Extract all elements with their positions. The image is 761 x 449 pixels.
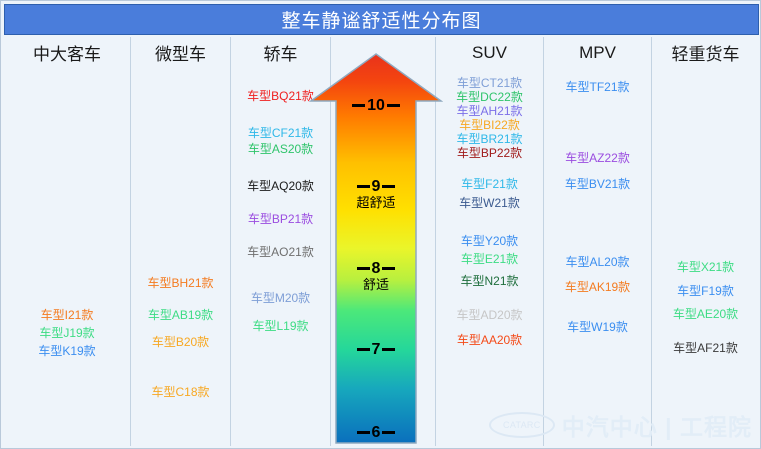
model-label: 车型AZ22款 [565,152,630,165]
category-header-label: 中大客车 [33,40,101,65]
category-header-label: MPV [579,43,616,63]
category-header-label: 轿车 [264,40,298,65]
model-label: 车型AA20款 [457,334,522,347]
model-label: 车型F19款 [677,285,734,298]
model-label: 车型AB19款 [148,309,213,322]
model-label: 车型AL20款 [565,256,629,269]
model-label: 车型E21款 [461,253,518,266]
model-label: 车型AF21款 [673,342,738,355]
model-label: 车型BQ21款 [247,90,314,103]
model-label: 车型N21款 [460,275,518,288]
model-label: 车型M20款 [251,292,310,305]
category-header-label: 轻重货车 [672,40,740,65]
category-header-suv: SUV [435,37,543,68]
model-label: 车型AQ20款 [247,180,314,193]
model-label: 车型AH21款 [456,105,522,118]
model-label: 车型J19款 [39,327,94,340]
category-columns: 车型I21款车型J19款车型K19款车型BH21款车型AB19款车型B20款车型… [4,68,759,446]
model-label: 车型AE20款 [673,308,738,321]
category-column-sedan: 车型BQ21款车型CF21款车型AS20款车型AQ20款车型BP21款车型AO2… [230,68,330,446]
model-label: 车型BI22款 [459,119,520,132]
model-label: 车型AO21款 [247,246,314,259]
category-header-light-heavy-truck: 轻重货车 [651,37,759,68]
model-label: 车型L19款 [252,320,308,333]
category-column-mini-car: 车型BH21款车型AB19款车型B20款车型C18款 [130,68,230,446]
model-label: 车型AK19款 [565,281,630,294]
category-header-label: SUV [472,43,507,63]
model-label: 车型CT21款 [457,77,522,90]
category-column-light-heavy-truck: 车型X21款车型F19款车型AE20款车型AF21款 [651,68,759,446]
category-header-sedan: 轿车 [230,37,330,68]
title-banner: 整车静谧舒适性分布图 [4,4,759,35]
model-label: 车型F21款 [461,178,518,191]
catarc-logo-icon: CATARC [489,412,555,438]
model-label: 车型Y20款 [461,235,518,248]
model-label: 车型BV21款 [565,178,630,191]
model-label: 车型AS20款 [248,143,313,156]
model-label: 车型BR21款 [456,133,522,146]
model-label: 车型B20款 [152,336,209,349]
category-column-mpv: 车型TF21款车型AZ22款车型BV21款车型AL20款车型AK19款车型W19… [543,68,651,446]
model-label: 车型AD20款 [456,309,522,322]
model-label: 车型I21款 [41,309,94,322]
watermark: CATARC 中汽中心 | 工程院 [489,408,752,442]
model-label: 车型W19款 [567,321,628,334]
model-label: 车型TF21款 [565,81,629,94]
model-label: 车型CF21款 [248,127,313,140]
category-header-row: 中大客车微型车轿车SUVMPV轻重货车 [4,37,759,68]
model-label: 车型DC22款 [456,91,523,104]
model-label: 车型W21款 [459,197,520,210]
category-column-suv: 车型CT21款车型DC22款车型AH21款车型BI22款车型BR21款车型BP2… [435,68,543,446]
category-header-label: 微型车 [155,40,206,65]
model-label: 车型C18款 [151,386,209,399]
category-header-arrow-gap [330,37,435,68]
watermark-brand-text: 中汽中心 | 工程院 [562,408,752,442]
category-column-arrow-gap [330,68,435,446]
category-column-large-bus: 车型I21款车型J19款车型K19款 [4,68,130,446]
chart-root: 整车静谧舒适性分布图 中大客车微型车轿车SUVMPV轻重货车 车型I21款车型J… [0,0,761,449]
model-label: 车型BH21款 [147,277,213,290]
category-header-mini-car: 微型车 [130,37,230,68]
model-label: 车型BP22款 [457,147,522,160]
page-title: 整车静谧舒适性分布图 [281,6,481,33]
model-label: 车型X21款 [677,261,734,274]
category-header-mpv: MPV [543,37,651,68]
category-header-large-bus: 中大客车 [4,37,130,68]
model-label: 车型BP21款 [248,213,313,226]
model-label: 车型K19款 [38,345,95,358]
